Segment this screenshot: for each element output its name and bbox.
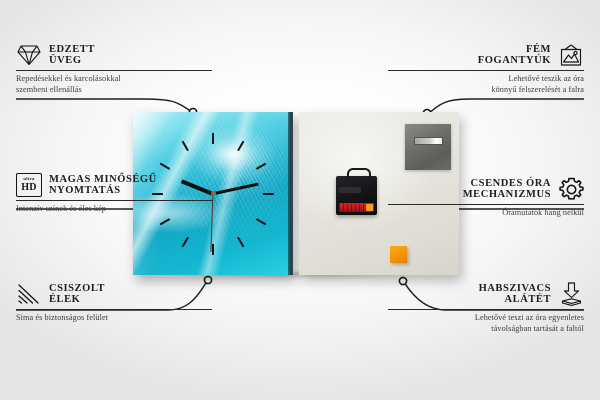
feature-header: CSENDES ÓRA MECHANIZMUS bbox=[388, 176, 584, 204]
foam-spacer-pad bbox=[390, 246, 407, 263]
feature-hd-print: ultra HD MAGAS MINŐSÉGŰ NYOMTATÁS Intenz… bbox=[16, 172, 212, 215]
clock-tick bbox=[160, 218, 171, 225]
feature-titles: HABSZIVACS ALÁTÉT bbox=[479, 283, 551, 306]
metal-hanger-plate bbox=[405, 124, 451, 170]
feature-rule bbox=[388, 70, 584, 71]
feature-title-line2: FOGANTYÚK bbox=[478, 55, 551, 66]
feature-subtitle-line1: Intenzív színek és éles kép bbox=[16, 204, 212, 215]
connector-tempered-glass bbox=[16, 99, 192, 112]
feature-subtitle-line1: Repedésekkel és karcolásokkal bbox=[16, 74, 212, 85]
feature-silent-clock-mechanism: CSENDES ÓRA MECHANIZMUS Óramutatók hang … bbox=[388, 176, 584, 219]
feature-titles: FÉM FOGANTYÚK bbox=[478, 44, 551, 67]
polished-edge-icon bbox=[16, 281, 42, 307]
feature-header: ultra HD MAGAS MINŐSÉGŰ NYOMTATÁS bbox=[16, 172, 212, 200]
feature-subtitle-line2: távolságban tartását a faltól bbox=[388, 324, 584, 335]
battery-plus-terminal bbox=[366, 204, 373, 211]
gear-icon bbox=[558, 176, 584, 202]
clock-tick bbox=[237, 140, 244, 151]
feature-titles: CSISZOLT ÉLEK bbox=[49, 283, 105, 306]
feature-subtitle: Lehetővé teszik az óra könnyű felszerelé… bbox=[388, 74, 584, 96]
feature-header: EDZETT ÜVEG bbox=[16, 42, 212, 70]
feature-title-line1: MAGAS MINŐSÉGŰ bbox=[49, 174, 157, 185]
clock-minute-hand bbox=[213, 182, 260, 195]
feature-foam-pad: HABSZIVACS ALÁTÉT Lehetővé teszi az óra … bbox=[388, 281, 584, 335]
feature-titles: CSENDES ÓRA MECHANIZMUS bbox=[463, 178, 551, 201]
feature-subtitle-line2: szembeni ellenállás bbox=[16, 85, 212, 96]
feature-metal-hangers: FÉM FOGANTYÚK Lehetővé teszik az óra kön… bbox=[388, 42, 584, 96]
clock-tick bbox=[160, 162, 171, 169]
feature-title-line2: NYOMTATÁS bbox=[49, 185, 157, 196]
feature-subtitle-line1: Sima és biztonságos felület bbox=[16, 313, 212, 324]
keyhole-slot-icon bbox=[414, 137, 443, 145]
clock-tick bbox=[212, 244, 214, 255]
ultra-hd-icon-main-text: HD bbox=[21, 183, 36, 193]
feature-title-line1: CSENDES ÓRA bbox=[463, 178, 551, 189]
feature-subtitle-line2: könnyű felszerelését a falra bbox=[388, 85, 584, 96]
clock-tick bbox=[256, 218, 267, 225]
feature-subtitle: Intenzív színek és éles kép bbox=[16, 204, 212, 215]
mechanism-hanging-loop bbox=[347, 168, 371, 181]
feature-subtitle: Repedésekkel és karcolásokkal szembeni e… bbox=[16, 74, 212, 96]
feature-title-line1: FÉM bbox=[478, 44, 551, 55]
feature-title-line1: HABSZIVACS bbox=[479, 283, 551, 294]
feature-header: FÉM FOGANTYÚK bbox=[388, 42, 584, 70]
feature-tempered-glass: EDZETT ÜVEG Repedésekkel és karcolásokka… bbox=[16, 42, 212, 96]
feature-titles: EDZETT ÜVEG bbox=[49, 44, 95, 67]
feature-rule bbox=[16, 200, 212, 201]
feature-title-line2: ÉLEK bbox=[49, 294, 105, 305]
feature-polished-edges: CSISZOLT ÉLEK Sima és biztonságos felüle… bbox=[16, 281, 212, 324]
feature-rule bbox=[388, 309, 584, 310]
feature-header: HABSZIVACS ALÁTÉT bbox=[388, 281, 584, 309]
diamond-icon bbox=[16, 42, 42, 68]
metal-texture bbox=[405, 124, 451, 170]
feature-title-line1: CSISZOLT bbox=[49, 283, 105, 294]
mechanism-body-detail bbox=[339, 187, 361, 193]
feature-subtitle: Óramutatók hang nélkül bbox=[388, 208, 584, 219]
quartz-clock-mechanism bbox=[336, 176, 377, 215]
feature-titles: MAGAS MINŐSÉGŰ NYOMTATÁS bbox=[49, 174, 157, 197]
clock-tick bbox=[256, 162, 267, 169]
clock-tick bbox=[212, 133, 214, 144]
feature-subtitle: Lehetővé teszi az óra egyenletes távolsá… bbox=[388, 313, 584, 335]
feature-rule bbox=[388, 204, 584, 205]
feature-title-line1: EDZETT bbox=[49, 44, 95, 55]
infographic-canvas: EDZETT ÜVEG Repedésekkel és karcolásokka… bbox=[0, 0, 600, 400]
feature-title-line2: MECHANIZMUS bbox=[463, 189, 551, 200]
feature-subtitle-line1: Lehetővé teszi az óra egyenletes bbox=[388, 313, 584, 324]
feature-title-line2: ALÁTÉT bbox=[479, 294, 551, 305]
ultra-hd-icon: ultra HD bbox=[16, 172, 42, 198]
feature-rule bbox=[16, 309, 212, 310]
clock-tick bbox=[237, 236, 244, 247]
feature-subtitle-line1: Óramutatók hang nélkül bbox=[388, 208, 584, 219]
feature-title-line2: ÜVEG bbox=[49, 55, 95, 66]
feature-subtitle: Sima és biztonságos felület bbox=[16, 313, 212, 324]
glass-right-edge bbox=[288, 112, 293, 275]
foam-pad-arrow-icon bbox=[558, 281, 584, 307]
feature-rule bbox=[16, 70, 212, 71]
feature-header: CSISZOLT ÉLEK bbox=[16, 281, 212, 309]
clock-tick bbox=[182, 140, 189, 151]
clock-tick bbox=[182, 236, 189, 247]
clock-tick bbox=[263, 193, 274, 195]
battery bbox=[339, 203, 374, 212]
feature-subtitle-line1: Lehetővé teszik az óra bbox=[388, 74, 584, 85]
picture-hanger-icon bbox=[558, 42, 584, 68]
